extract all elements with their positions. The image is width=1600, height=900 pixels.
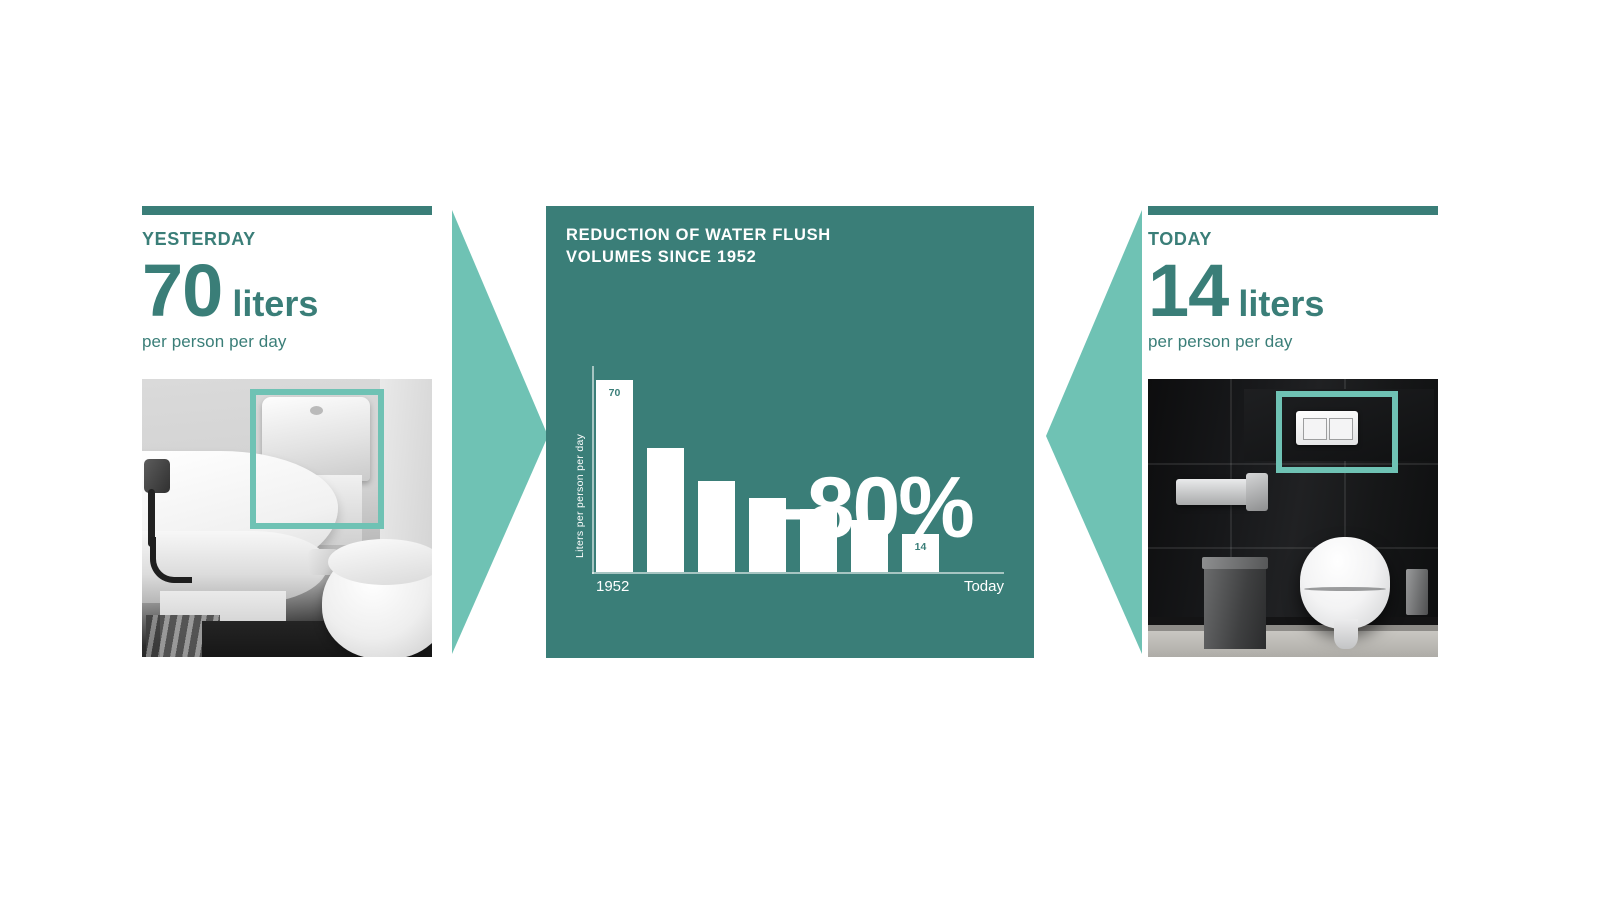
today-panel: TODAY 14 liters per person per day (1148, 206, 1438, 352)
yesterday-unit: liters (232, 283, 318, 325)
today-unit: liters (1238, 283, 1324, 325)
wall-hung-toilet (1300, 537, 1390, 629)
x-tick-last: Today (964, 578, 1004, 595)
yesterday-kicker: YESTERDAY (142, 229, 432, 250)
yesterday-number: 70 (142, 256, 222, 326)
yesterday-panel: YESTERDAY 70 liters per person per day (142, 206, 432, 352)
y-axis-line (592, 366, 594, 574)
today-subtitle: per person per day (1148, 332, 1438, 352)
bar-4 (800, 509, 837, 572)
arrow-right-icon (452, 206, 548, 658)
today-photo (1148, 379, 1438, 657)
chart-card: REDUCTION OF WATER FLUSH VOLUMES SINCE 1… (546, 206, 1034, 658)
grab-bar (1176, 479, 1258, 505)
bar-1 (647, 448, 684, 572)
bar-5 (851, 520, 888, 572)
waste-bin (1204, 565, 1266, 649)
flush-volume-bar-chart: Liters per person per day 7014 1952 Toda… (574, 366, 1014, 598)
today-value-line: 14 liters (1148, 256, 1438, 326)
yesterday-subtitle: per person per day (142, 332, 432, 352)
highlight-box-flush-plate (1276, 391, 1398, 473)
bar-3 (749, 498, 786, 572)
today-kicker: TODAY (1148, 229, 1438, 250)
panel-rule-left (142, 206, 432, 215)
toilet-brush (1406, 569, 1428, 615)
bar-6: 14 (902, 534, 939, 572)
y-axis-label: Liters per person per day (574, 416, 588, 576)
highlight-box-cistern (250, 389, 384, 529)
x-axis-line (592, 572, 1004, 574)
panel-rule-right (1148, 206, 1438, 215)
bar-0: 70 (596, 380, 633, 572)
chart-title: REDUCTION OF WATER FLUSH VOLUMES SINCE 1… (566, 224, 831, 269)
bar-value-label-6: 14 (915, 541, 927, 553)
x-tick-first: 1952 (596, 578, 629, 595)
bar-value-label-0: 70 (609, 387, 621, 399)
infographic-canvas: YESTERDAY 70 liters per person per day (0, 0, 1600, 900)
yesterday-photo (142, 379, 432, 657)
arrow-left-icon (1046, 206, 1142, 658)
today-number: 14 (1148, 256, 1228, 326)
yesterday-value-line: 70 liters (142, 256, 432, 326)
x-axis-tick-labels: 1952 Today (596, 578, 1004, 595)
bar-2 (698, 481, 735, 572)
bar-series: 7014 (596, 366, 1004, 572)
tap-icon (144, 459, 170, 493)
